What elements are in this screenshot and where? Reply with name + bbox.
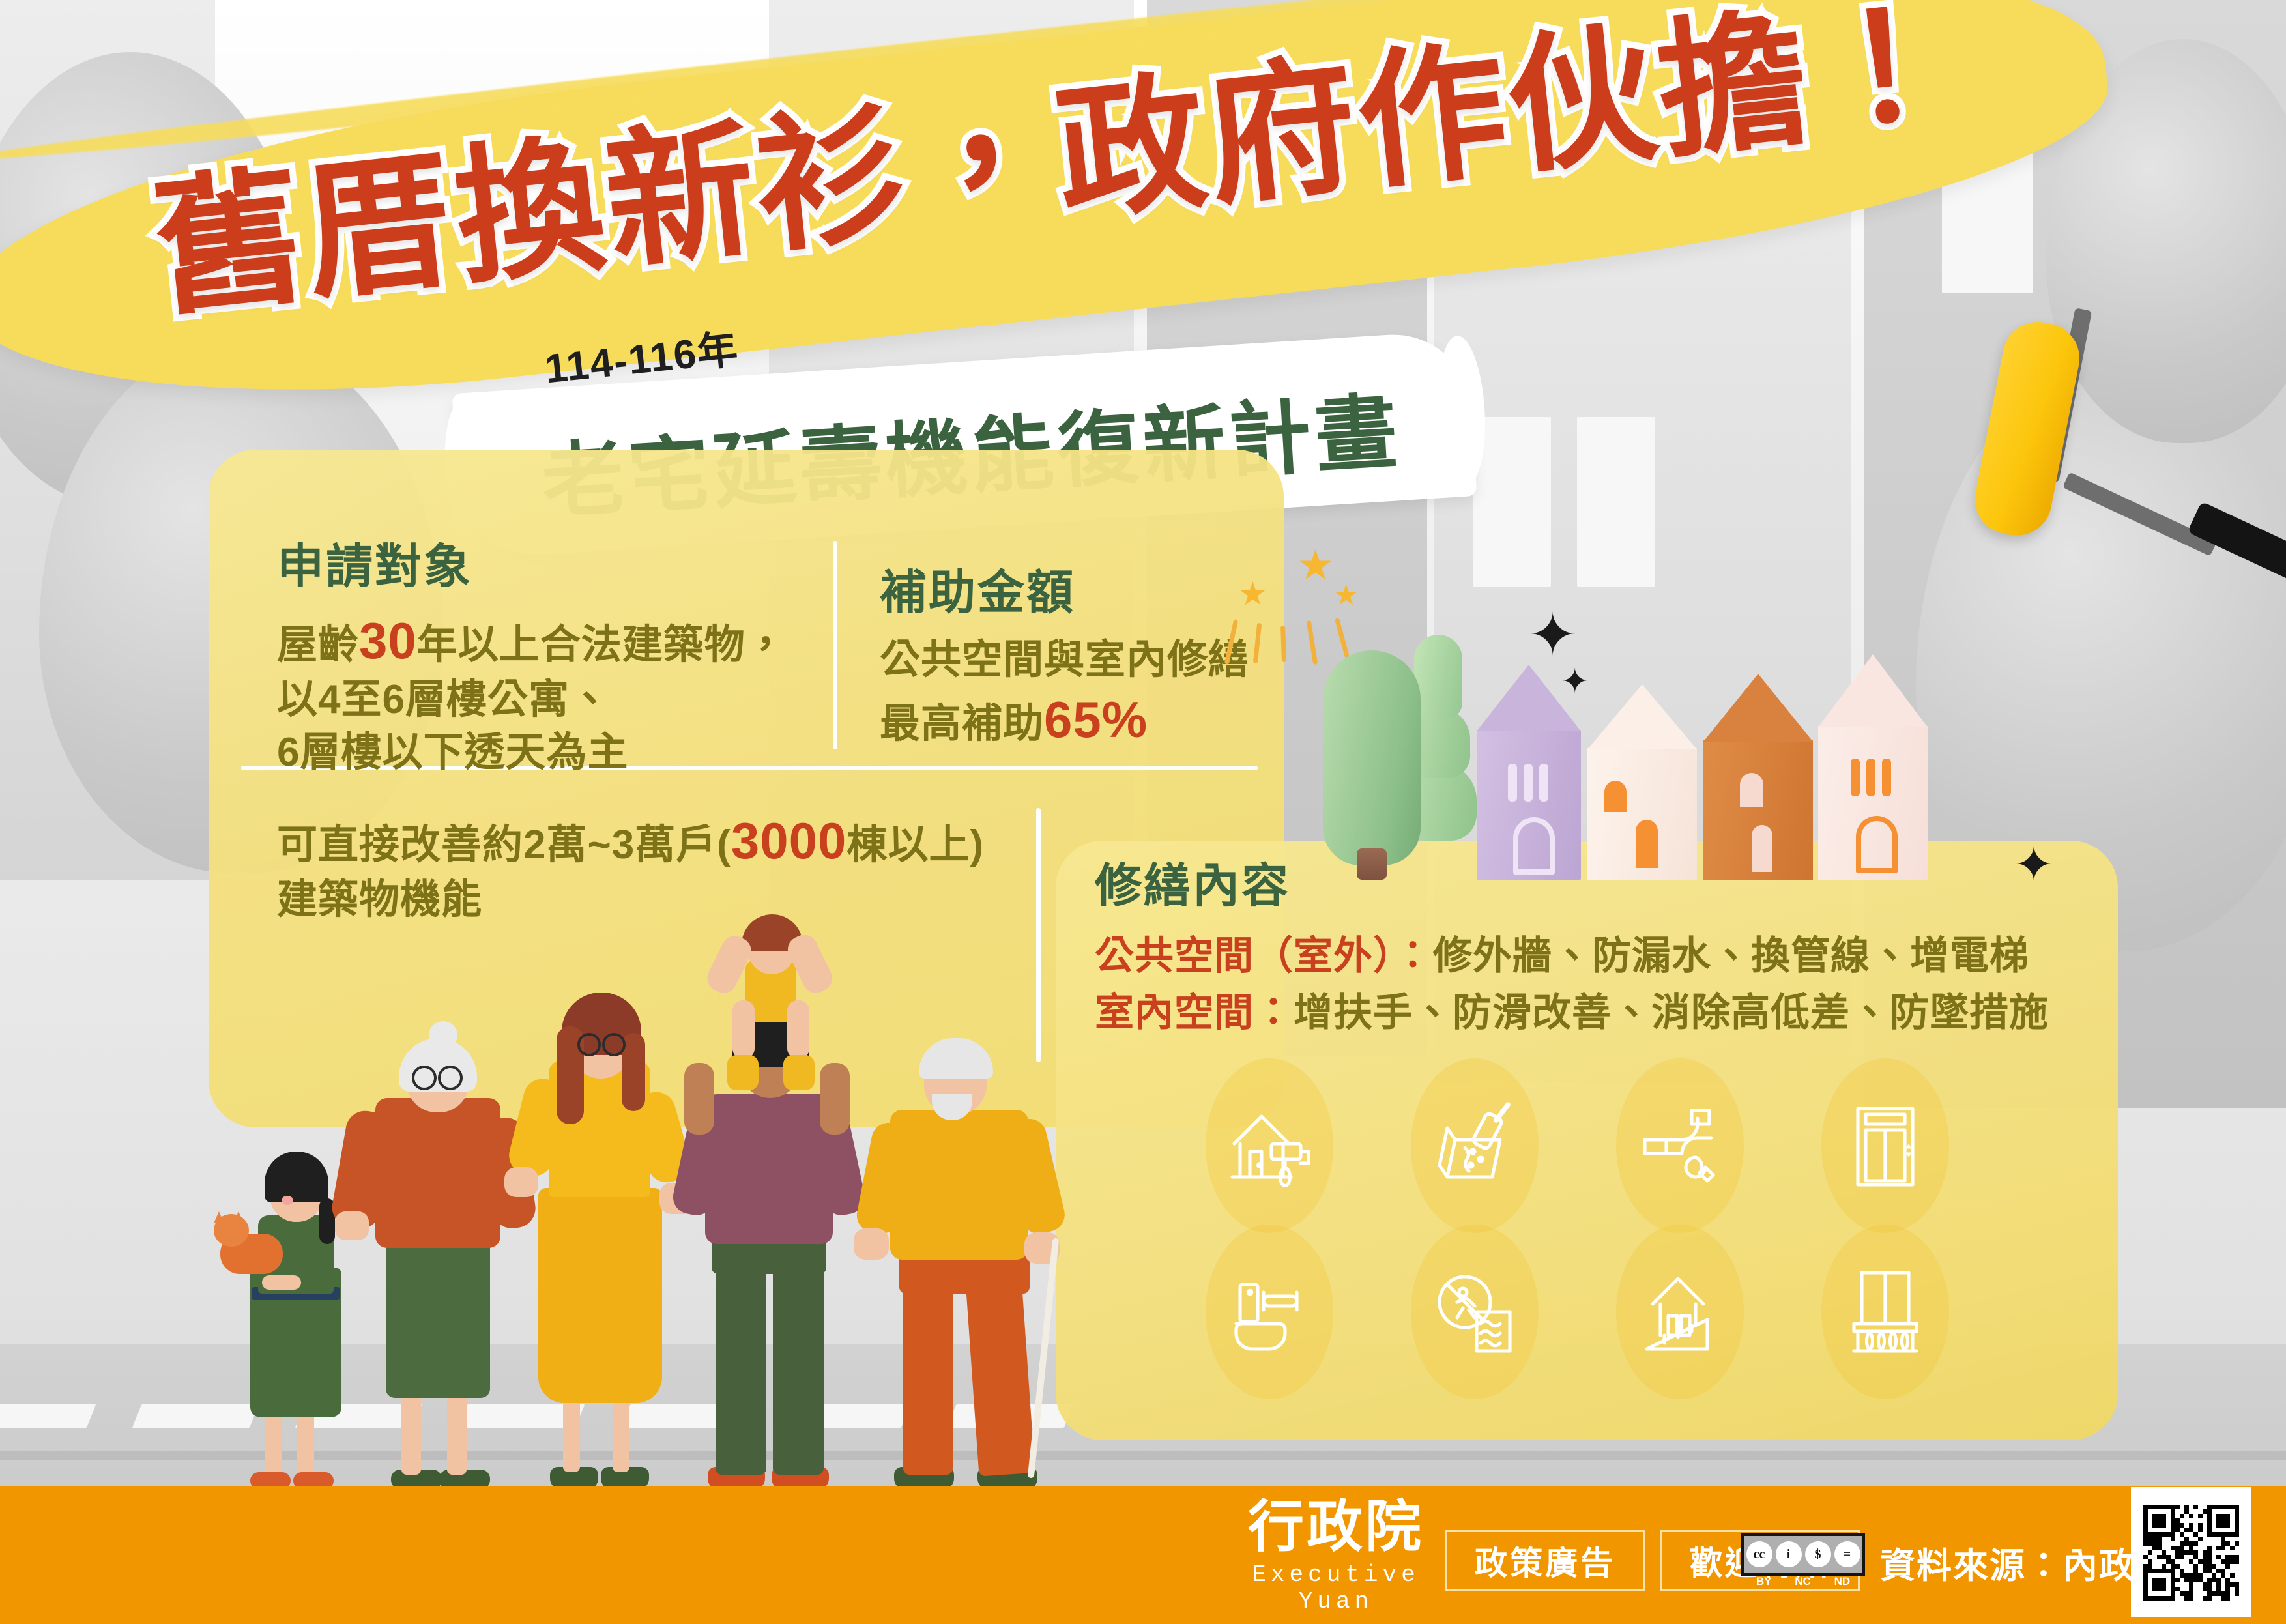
toy-house-lavender bbox=[1477, 665, 1581, 880]
repair-indoor-label: 室內空間： bbox=[1095, 991, 1294, 1034]
icon-cell bbox=[1166, 1062, 1372, 1228]
ramp-house-icon bbox=[1631, 1263, 1729, 1361]
impact-count: 3000 bbox=[731, 812, 847, 869]
applicant-body: 屋齡30年以上合法建築物， 以4至6層樓公寓、 6層樓以下透天為主 bbox=[277, 608, 818, 779]
toilet-grab-bar-icon bbox=[1221, 1263, 1318, 1361]
cc-nd-mark: = bbox=[1834, 1541, 1860, 1567]
toy-house-scene bbox=[1323, 573, 2040, 880]
icon-cell bbox=[1577, 1062, 1782, 1228]
data-source-text: 資料來源：內政部 bbox=[1880, 1537, 2172, 1588]
poster-canvas: 舊厝換新衫，政府作伙擔！ 114-116年 老宅延壽機能復新計畫 申請對象 屋齡… bbox=[0, 0, 2286, 1624]
repair-public-items: 修外牆、防漏水、換管線、增電梯 bbox=[1433, 934, 2029, 978]
cc-by-mark: i bbox=[1776, 1541, 1802, 1567]
executive-yuan-name-cn: 行政院 bbox=[1232, 1499, 1440, 1555]
family-illustration bbox=[215, 883, 1082, 1489]
balcony-railing-icon bbox=[1836, 1263, 1934, 1361]
waterproof-roller-icon bbox=[1426, 1097, 1524, 1195]
cc-nc-mark: $ bbox=[1805, 1541, 1831, 1567]
toy-house-orange bbox=[1703, 673, 1813, 880]
toy-house-cream bbox=[1587, 684, 1697, 880]
icon-cell bbox=[1577, 1228, 1782, 1395]
icon-cell bbox=[1372, 1228, 1577, 1395]
repair-indoor-items: 增扶手、防滑改善、消除高低差、防墜措施 bbox=[1294, 991, 2049, 1034]
person-elderly-man-cane bbox=[854, 974, 1069, 1489]
pipe-wrench-icon bbox=[1631, 1097, 1729, 1195]
repair-icon-grid bbox=[1166, 1062, 1988, 1395]
person-man-with-child bbox=[665, 916, 860, 1489]
tag-policy-ad: 政策廣告 bbox=[1445, 1530, 1645, 1591]
walking-cane bbox=[1028, 1238, 1060, 1478]
repair-public-label: 公共空間（室外）： bbox=[1095, 934, 1433, 978]
person-elderly-woman bbox=[345, 1033, 521, 1489]
subsidy-percent: 65% bbox=[1044, 691, 1148, 748]
cc-label-nc: NC bbox=[1795, 1575, 1811, 1588]
creative-commons-badge: cc i $ = BY NC ND bbox=[1741, 1533, 1865, 1576]
zebra-stripe bbox=[0, 1404, 96, 1428]
icon-cell bbox=[1782, 1062, 1988, 1228]
icon-cell bbox=[1372, 1062, 1577, 1228]
icon-cell bbox=[1782, 1228, 1988, 1395]
elevator-icon bbox=[1836, 1097, 1934, 1195]
house-paint-roller-icon bbox=[1221, 1097, 1318, 1195]
icon-cell bbox=[1166, 1228, 1372, 1395]
repair-body: 公共空間（室外）：修外牆、防漏水、換管線、增電梯 室內空間：增扶手、防滑改善、消… bbox=[1095, 927, 2085, 1041]
person-woman-yellow-dress bbox=[502, 968, 684, 1489]
background-window bbox=[1577, 417, 1655, 587]
executive-yuan-name-en: Executive Yuan bbox=[1232, 1561, 1440, 1615]
executive-yuan-logo: 行政院 Executive Yuan bbox=[1232, 1499, 1440, 1615]
cc-mark: cc bbox=[1746, 1541, 1772, 1567]
background-window bbox=[1473, 417, 1551, 587]
cc-label-by: BY bbox=[1756, 1575, 1772, 1588]
card-divider-vertical bbox=[833, 541, 837, 749]
applicant-age-number: 30 bbox=[359, 612, 417, 669]
anti-slip-floor-icon bbox=[1426, 1263, 1524, 1361]
cc-label-nd: ND bbox=[1834, 1575, 1851, 1588]
section-applicant: 申請對象 屋齡30年以上合法建築物， 以4至6層樓公寓、 6層樓以下透天為主 bbox=[277, 528, 818, 779]
qr-code[interactable] bbox=[2131, 1487, 2251, 1617]
toy-house-pink bbox=[1818, 654, 1928, 880]
applicant-heading: 申請對象 bbox=[277, 528, 818, 596]
